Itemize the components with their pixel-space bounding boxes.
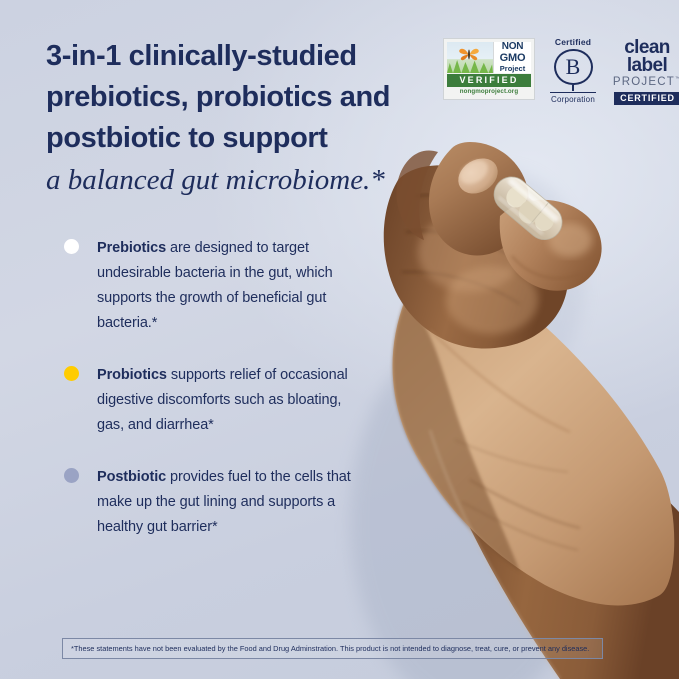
headline-line-3: postbiotic to support	[46, 118, 446, 159]
headline-line-4-italic: a balanced gut microbiome.*	[46, 159, 446, 201]
b-corp-circle-icon: B	[554, 49, 593, 86]
headline-line-2: prebiotics, probiotics and	[46, 77, 446, 118]
clean-label-certified-badge: CERTIFIED	[614, 92, 679, 105]
headline-line-1: 3-in-1 clinically-studied	[46, 36, 446, 77]
prebiotics-dot-icon	[64, 239, 79, 254]
b-corp-stem	[572, 85, 574, 91]
non-gmo-line-non: NON	[502, 42, 524, 52]
b-corp-badge: Certified B Corporation	[546, 38, 600, 104]
butterfly-grass-icon	[447, 42, 493, 73]
non-gmo-line-project: Project	[500, 65, 525, 73]
non-gmo-top-row: NON GMO Project	[447, 42, 531, 73]
postbiotic-dot-icon	[64, 468, 79, 483]
b-corp-rule	[550, 92, 596, 93]
list-item: Postbiotic provides fuel to the cells th…	[64, 465, 364, 540]
postbiotic-lead: Postbiotic	[97, 469, 166, 485]
probiotics-dot-icon	[64, 366, 79, 381]
clean-label-word-project: PROJECT™	[613, 77, 679, 89]
non-gmo-verified-banner: VERIFIED	[447, 74, 531, 86]
non-gmo-url: nongmoproject.org	[447, 87, 531, 96]
product-marketing-image: 3-in-1 clinically-studied prebiotics, pr…	[0, 0, 679, 679]
probiotics-text: Probiotics supports relief of occasional…	[97, 363, 364, 438]
b-corp-corporation-label: Corporation	[551, 96, 595, 104]
list-item: Prebiotics are designed to target undesi…	[64, 236, 364, 336]
postbiotic-text: Postbiotic provides fuel to the cells th…	[97, 465, 364, 540]
list-item: Probiotics supports relief of occasional…	[64, 363, 364, 438]
certification-badges: NON GMO Project VERIFIED nongmoproject.o…	[443, 38, 679, 110]
b-corp-letter: B	[566, 56, 581, 78]
non-gmo-project-verified-badge: NON GMO Project VERIFIED nongmoproject.o…	[443, 38, 535, 100]
disclaimer-text: *These statements have not been evaluate…	[71, 644, 589, 653]
butterfly-icon	[458, 46, 480, 63]
trademark-icon: ™	[675, 76, 679, 82]
b-corp-certified-label: Certified	[555, 38, 591, 47]
clean-label-word-label: label	[627, 56, 667, 75]
headline: 3-in-1 clinically-studied prebiotics, pr…	[46, 36, 446, 201]
clean-label-project-badge: clean label PROJECT™ CERTIFIED	[611, 38, 679, 104]
prebiotics-lead: Prebiotics	[97, 240, 166, 256]
clean-label-project-text: PROJECT	[613, 76, 675, 88]
benefits-list: Prebiotics are designed to target undesi…	[64, 236, 364, 567]
non-gmo-line-gmo: GMO	[500, 53, 526, 64]
probiotics-lead: Probiotics	[97, 367, 167, 383]
disclaimer-box: *These statements have not been evaluate…	[62, 638, 603, 659]
prebiotics-text: Prebiotics are designed to target undesi…	[97, 236, 364, 336]
non-gmo-wordmark: NON GMO Project	[493, 42, 531, 73]
